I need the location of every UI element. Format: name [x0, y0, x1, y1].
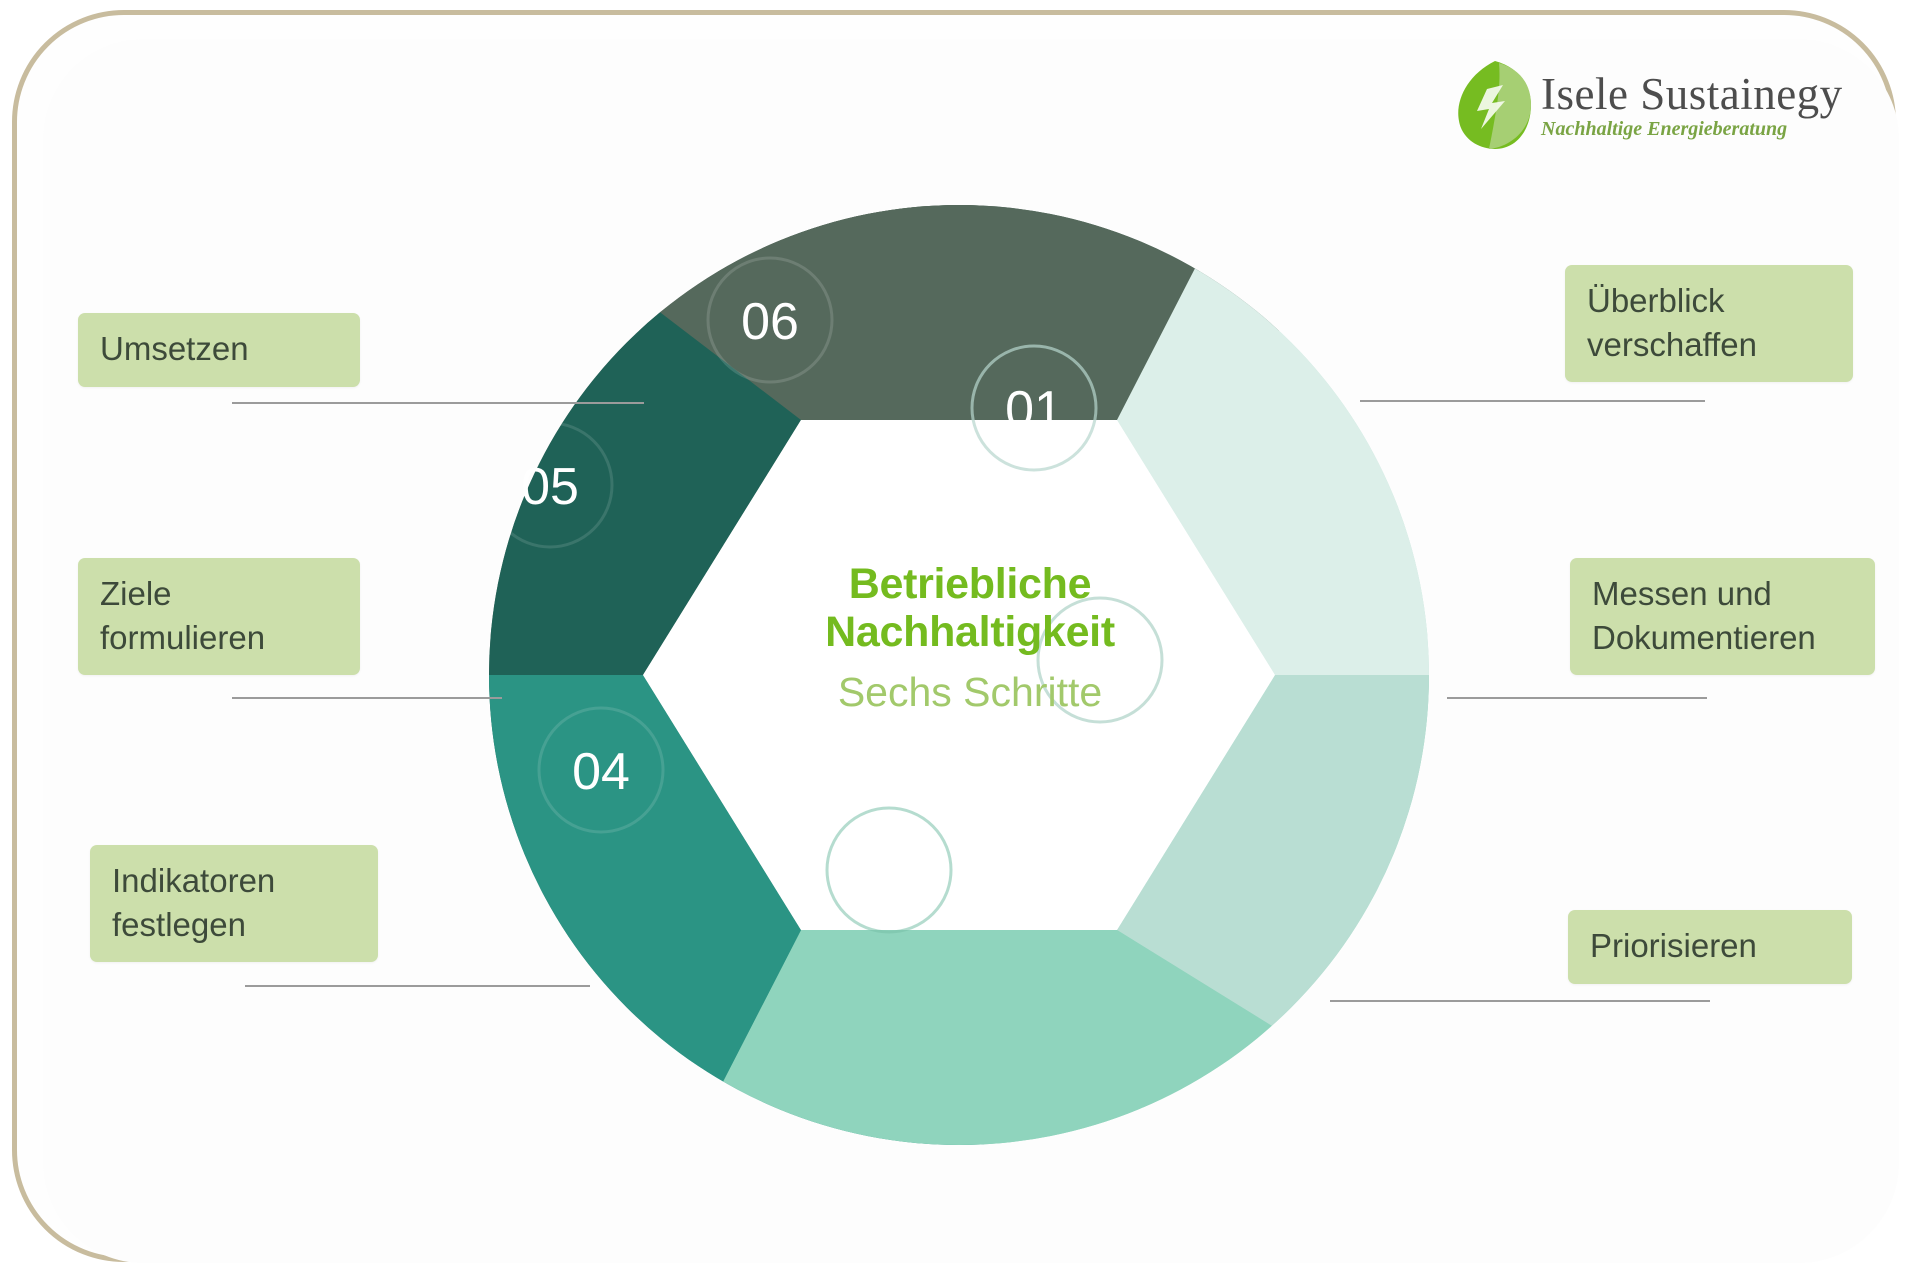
label-chip-ueberblick-verschaffen[interactable]: Überblick verschaffen — [1565, 265, 1853, 382]
label-line: formulieren — [100, 616, 338, 660]
segment-06-number: 06 — [741, 293, 799, 351]
brand-name: Isele Sustainegy — [1541, 72, 1843, 117]
brand-logo-text: Isele Sustainegy Nachhaltige Energiebera… — [1541, 72, 1843, 139]
label-line: Überblick — [1587, 279, 1831, 323]
label-line: verschaffen — [1587, 323, 1831, 367]
label-chip-messen-und-dokumentieren[interactable]: Messen und Dokumentieren — [1570, 558, 1875, 675]
leaf-energy-icon — [1455, 59, 1533, 151]
connector-line-03 — [1330, 1000, 1710, 1002]
label-chip-umsetzen[interactable]: Umsetzen — [78, 313, 360, 387]
label-line: Messen und — [1592, 572, 1853, 616]
connector-line-02 — [1447, 697, 1707, 699]
segment-05-number: 05 — [521, 458, 579, 516]
label-chip-priorisieren[interactable]: Priorisieren — [1568, 910, 1852, 984]
segment-01-number: 01 — [1005, 381, 1063, 439]
brand-tagline: Nachhaltige Energieberatung — [1541, 119, 1843, 139]
brand-logo: Isele Sustainegy Nachhaltige Energiebera… — [1455, 50, 1845, 160]
connector-line-04 — [245, 985, 590, 987]
connector-line-06 — [232, 402, 644, 404]
segment-02-number: 02 — [1071, 633, 1129, 691]
segment-04-number: 04 — [572, 743, 630, 801]
label-line: festlegen — [112, 903, 356, 947]
label-line: Indikatoren — [112, 859, 356, 903]
connector-line-05 — [232, 697, 502, 699]
label-chip-indikatoren-festlegen[interactable]: Indikatoren festlegen — [90, 845, 378, 962]
label-chip-ziele-formulieren[interactable]: Ziele formulieren — [78, 558, 360, 675]
label-line: Umsetzen — [100, 327, 338, 371]
segment-03-number: 03 — [860, 843, 918, 901]
label-line: Priorisieren — [1590, 924, 1830, 968]
six-step-cycle-diagram: 06 01 02 03 04 05 — [489, 205, 1429, 1145]
connector-line-01 — [1360, 400, 1705, 402]
label-line: Dokumentieren — [1592, 616, 1853, 660]
label-line: Ziele — [100, 572, 338, 616]
